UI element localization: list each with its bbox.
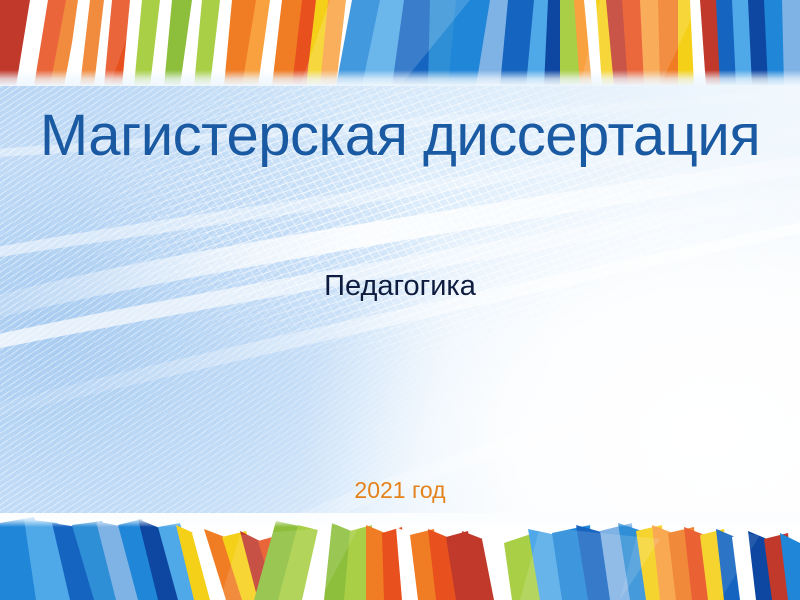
slide-year: 2021 год [0,477,800,504]
geometric-shards-bottom [0,513,800,600]
presentation-slide: Магистерская диссертация Педагогика 2021… [0,0,800,600]
geometric-shards-top [0,0,800,86]
shards-top-graphic [0,0,800,86]
shards-bottom-graphic [0,513,800,600]
slide-subtitle: Педагогика [0,270,800,303]
slide-title: Магистерская диссертация [0,106,800,167]
